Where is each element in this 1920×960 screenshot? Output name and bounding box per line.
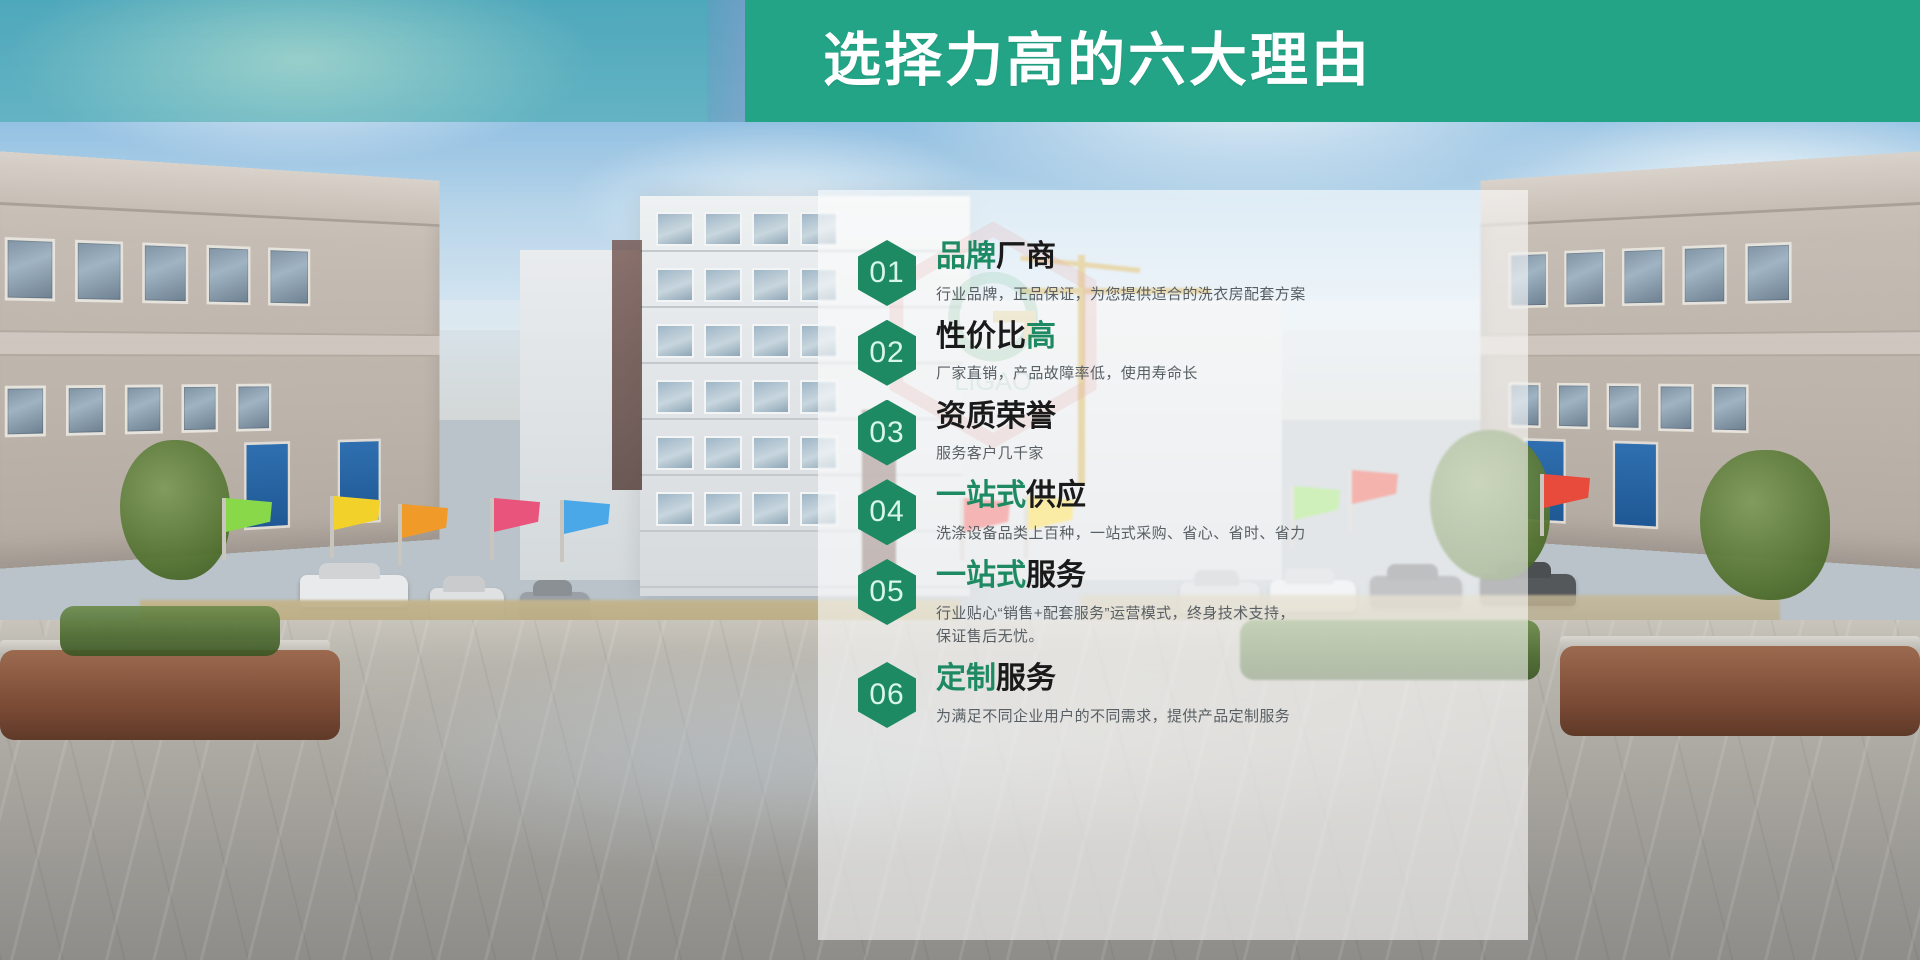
feature-item-02[interactable]: 02 性价比高 厂家直销，产品故障率低，使用寿命长 (858, 320, 1498, 386)
hex-badge-05: 05 (858, 559, 916, 625)
desc-line: 保证售后无忧。 (936, 625, 1498, 648)
feature-desc-06: 为满足不同企业用户的不同需求，提供产品定制服务 (936, 705, 1498, 728)
feature-desc-01: 行业品牌，正品保证，为您提供适合的洗衣房配套方案 (936, 283, 1498, 306)
feature-desc-04: 洗涤设备品类上百种，一站式采购、省心、省时、省力 (936, 522, 1498, 545)
feature-title-dark: 供应 (1026, 479, 1086, 512)
flag (330, 496, 334, 558)
features-list: 01 品牌厂商 行业品牌，正品保证，为您提供适合的洗衣房配套方案 02 性价比高 (858, 240, 1498, 742)
feature-number: 05 (858, 559, 916, 625)
hex-badge-01: 01 (858, 240, 916, 306)
tree (120, 440, 230, 580)
feature-desc-03: 服务客户几千家 (936, 442, 1498, 465)
hex-badge-04: 04 (858, 479, 916, 545)
hex-badge-03: 03 (858, 400, 916, 466)
tree (1700, 450, 1830, 600)
feature-number: 01 (858, 240, 916, 306)
feature-title-dark: 服务 (996, 662, 1056, 695)
hex-badge-06: 06 (858, 662, 916, 728)
feature-title-dark: 性价比 (936, 320, 1026, 353)
building-accent-stripe (612, 240, 642, 490)
desc-line: 服务客户几千家 (936, 442, 1498, 465)
feature-title-02: 性价比高 (936, 320, 1498, 355)
flag (1540, 474, 1544, 536)
desc-line: 洗涤设备品类上百种，一站式采购、省心、省时、省力 (936, 522, 1498, 545)
feature-item-03[interactable]: 03 资质荣誉 服务客户几千家 (858, 400, 1498, 466)
feature-title-01: 品牌厂商 (936, 240, 1498, 275)
desc-line: 行业贴心“销售+配套服务”运营模式，终身技术支持， (936, 602, 1498, 625)
feature-item-04[interactable]: 04 一站式供应 洗涤设备品类上百种，一站式采购、省心、省时、省力 (858, 479, 1498, 545)
feature-title-green: 一站式 (936, 559, 1026, 592)
feature-title-green: 定制 (936, 662, 996, 695)
feature-title-green: 品牌 (936, 240, 996, 273)
feature-title-06: 定制服务 (936, 662, 1498, 697)
feature-title-05: 一站式服务 (936, 559, 1498, 594)
hedge-right (1560, 646, 1920, 736)
feature-title-dark: 资质荣誉 (936, 400, 1056, 433)
hex-badge-02: 02 (858, 320, 916, 386)
feature-item-06[interactable]: 06 定制服务 为满足不同企业用户的不同需求，提供产品定制服务 (858, 662, 1498, 728)
promo-banner-page: 选择力高的六大理由 LIGAO 01 品牌厂商 行业品牌，正品保证，为您提供适合… (0, 0, 1920, 960)
flag (398, 504, 402, 566)
feature-desc-02: 厂家直销，产品故障率低，使用寿命长 (936, 362, 1498, 385)
hedge-left (0, 650, 340, 740)
feature-number: 04 (858, 479, 916, 545)
feature-title-dark: 厂商 (996, 240, 1056, 273)
flag (222, 498, 226, 560)
feature-item-01[interactable]: 01 品牌厂商 行业品牌，正品保证，为您提供适合的洗衣房配套方案 (858, 240, 1498, 306)
feature-number: 06 (858, 662, 916, 728)
feature-desc-05: 行业贴心“销售+配套服务”运营模式，终身技术支持， 保证售后无忧。 (936, 602, 1498, 649)
header-banner: 选择力高的六大理由 (745, 0, 1920, 122)
feature-title-green: 一站式 (936, 479, 1026, 512)
flag (490, 498, 494, 560)
desc-line: 厂家直销，产品故障率低，使用寿命长 (936, 362, 1498, 385)
desc-line: 为满足不同企业用户的不同需求，提供产品定制服务 (936, 705, 1498, 728)
feature-number: 02 (858, 320, 916, 386)
feature-title-04: 一站式供应 (936, 479, 1498, 514)
header-sky-tint (0, 0, 745, 122)
feature-item-05[interactable]: 05 一站式服务 行业贴心“销售+配套服务”运营模式，终身技术支持， 保证售后无… (858, 559, 1498, 648)
flag (560, 500, 564, 562)
page-title: 选择力高的六大理由 (823, 32, 1372, 90)
feature-number: 03 (858, 400, 916, 466)
desc-line: 行业品牌，正品保证，为您提供适合的洗衣房配套方案 (936, 283, 1498, 306)
feature-title-green: 高 (1026, 320, 1056, 353)
feature-title-03: 资质荣誉 (936, 400, 1498, 435)
feature-title-dark: 服务 (1026, 559, 1086, 592)
hedge-mid-left (60, 606, 280, 656)
